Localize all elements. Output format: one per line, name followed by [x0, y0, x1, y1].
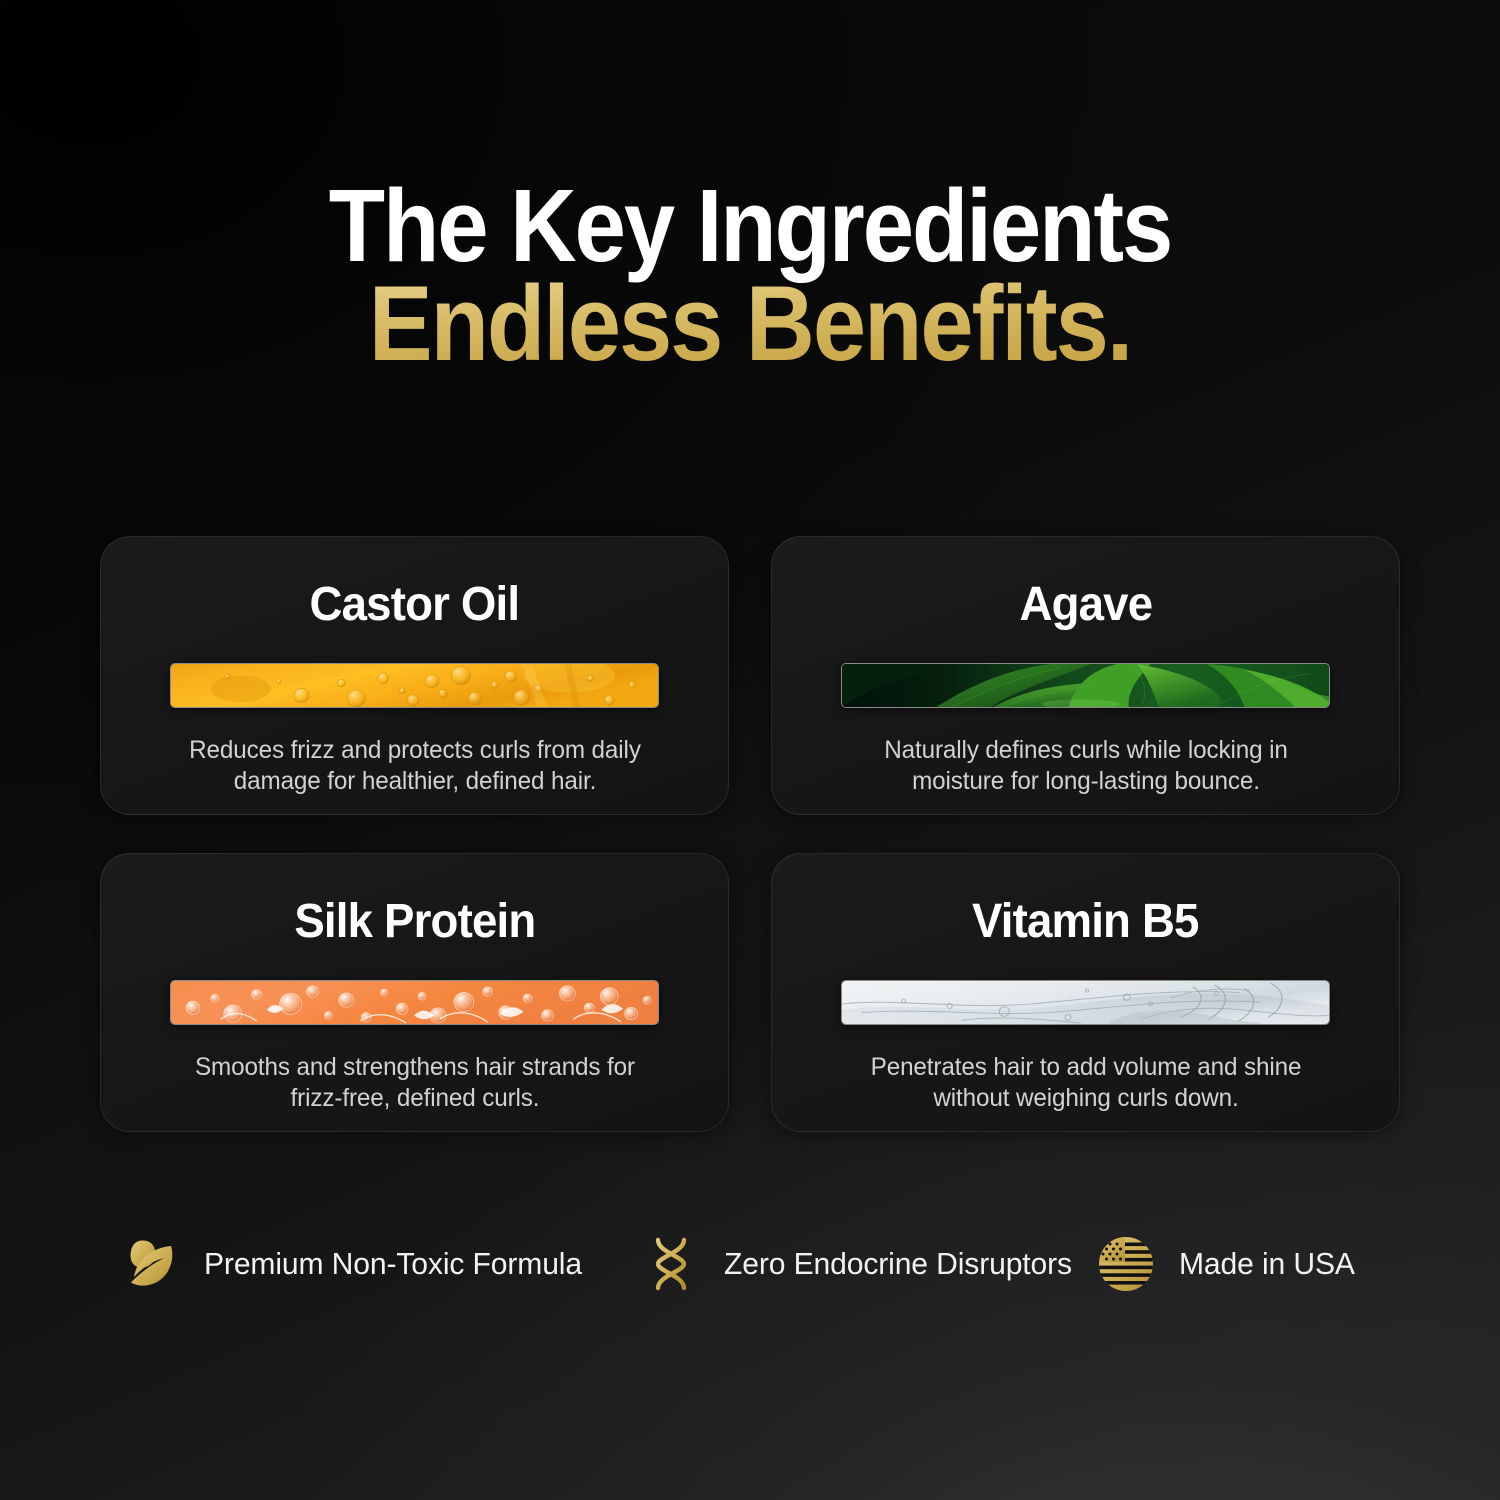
card-title: Castor Oil	[310, 581, 520, 629]
castor-oil-texture-image	[170, 663, 659, 708]
ingredient-card-agave[interactable]: Agave	[771, 536, 1400, 815]
leaf-icon	[120, 1233, 182, 1295]
card-title: Silk Protein	[294, 898, 535, 946]
silk-protein-texture-image	[170, 980, 659, 1025]
ingredient-card-castor-oil[interactable]: Castor Oil	[100, 536, 729, 815]
card-description: Penetrates hair to add volume and shine …	[858, 1052, 1314, 1114]
badge-premium-non-toxic-formula: Premium Non-Toxic Formula	[120, 1233, 640, 1295]
card-description: Reduces frizz and protects curls from da…	[187, 735, 643, 797]
card-description: Naturally defines curls while locking in…	[858, 735, 1314, 797]
usa-flag-icon	[1095, 1233, 1157, 1295]
page-heading: The Key Ingredients Endless Benefits.	[0, 176, 1500, 376]
ingredient-card-silk-protein[interactable]: Silk Protein	[100, 853, 729, 1132]
ingredients-page: The Key Ingredients Endless Benefits. Ca…	[0, 0, 1500, 1500]
ingredient-card-vitamin-b5[interactable]: Vitamin B5	[771, 853, 1400, 1132]
ingredient-card-grid: Castor Oil	[100, 536, 1400, 1132]
agave-leaves-texture-image	[841, 663, 1330, 708]
badge-label: Zero Endocrine Disruptors	[724, 1246, 1072, 1282]
card-title: Agave	[1019, 581, 1152, 629]
dna-icon	[640, 1233, 702, 1295]
vitamin-b5-water-texture-image	[841, 980, 1330, 1025]
badge-label: Made in USA	[1179, 1246, 1355, 1282]
heading-line-primary: The Key Ingredients	[79, 176, 1422, 276]
badge-made-in-usa: Made in USA	[1095, 1233, 1385, 1295]
badge-label: Premium Non-Toxic Formula	[204, 1246, 582, 1282]
trust-badge-row: Premium Non-Toxic Formula	[120, 1233, 1390, 1295]
heading-line-accent: Endless Benefits.	[79, 272, 1422, 376]
badge-zero-endocrine-disruptors: Zero Endocrine Disruptors	[640, 1233, 1095, 1295]
card-title: Vitamin B5	[972, 898, 1199, 946]
card-description: Smooths and strengthens hair strands for…	[187, 1052, 643, 1114]
